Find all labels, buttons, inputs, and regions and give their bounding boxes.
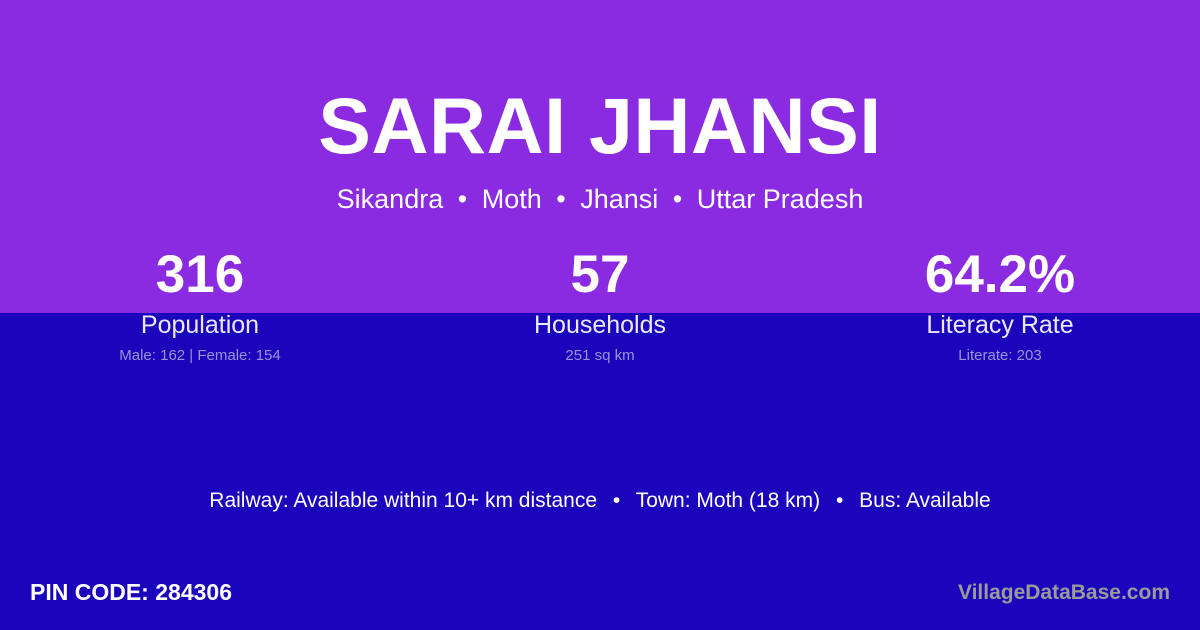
breadcrumb-tehsil: Moth xyxy=(482,184,542,214)
stat-literacy-rate: 64.2% Literacy Rate Literate: 203 xyxy=(800,246,1200,386)
stat-label: Population xyxy=(0,310,400,340)
breadcrumb-separator-icon: • xyxy=(451,184,474,214)
brand-watermark: VillageDataBase.com xyxy=(958,579,1170,607)
breadcrumb-district: Jhansi xyxy=(580,184,658,214)
pin-code: PIN CODE: 284306 xyxy=(30,577,232,607)
stat-detail: Male: 162 | Female: 154 xyxy=(0,346,400,365)
infra-separator-icon: • xyxy=(826,489,853,512)
stat-population: 316 Population Male: 162 | Female: 154 xyxy=(0,246,400,386)
stats-row: 316 Population Male: 162 | Female: 154 5… xyxy=(0,246,1200,386)
stat-label: Households xyxy=(400,310,800,340)
stat-label: Literacy Rate xyxy=(800,310,1200,340)
infra-bus: Bus: Available xyxy=(859,489,991,512)
infra-town: Town: Moth (18 km) xyxy=(636,489,820,512)
stat-households: 57 Households 251 sq km xyxy=(400,246,800,386)
village-info-card: SARAI JHANSI Sikandra • Moth • Jhansi • … xyxy=(0,0,1200,630)
breadcrumb-separator-icon: • xyxy=(666,184,689,214)
page-title: SARAI JHANSI xyxy=(0,82,1200,170)
stat-value: 64.2% xyxy=(800,246,1200,304)
stat-value: 316 xyxy=(0,246,400,304)
breadcrumb-block: Sikandra xyxy=(337,184,444,214)
breadcrumb: Sikandra • Moth • Jhansi • Uttar Pradesh xyxy=(0,183,1200,216)
infra-railway: Railway: Available within 10+ km distanc… xyxy=(209,489,597,512)
stat-detail: Literate: 203 xyxy=(800,346,1200,365)
breadcrumb-state: Uttar Pradesh xyxy=(697,184,864,214)
infrastructure-summary: Railway: Available within 10+ km distanc… xyxy=(0,487,1200,514)
stat-detail: 251 sq km xyxy=(400,346,800,365)
stat-value: 57 xyxy=(400,246,800,304)
breadcrumb-separator-icon: • xyxy=(549,184,572,214)
card-footer: PIN CODE: 284306 VillageDataBase.com xyxy=(0,577,1200,617)
infra-separator-icon: • xyxy=(603,489,630,512)
